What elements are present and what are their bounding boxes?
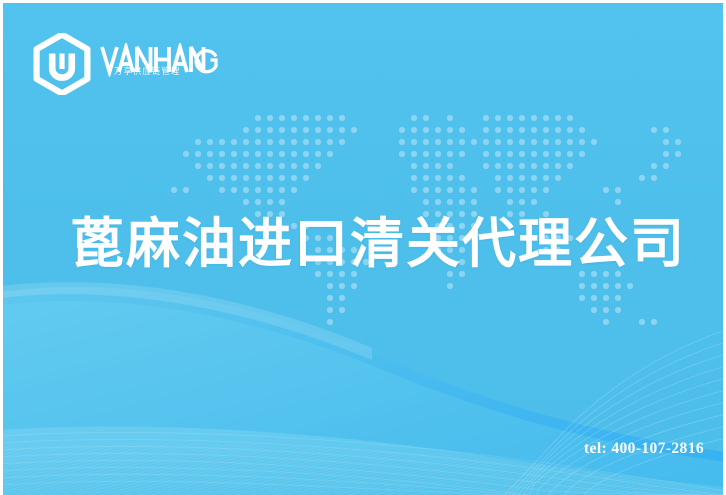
logo-subtitle: 万享供应链管理 xyxy=(114,67,180,75)
vanhang-hexagon-u-mark xyxy=(33,33,91,95)
contact-phone[interactable]: tel: 400-107-2816 xyxy=(584,441,704,457)
logo-text-block: 万享供应链管理 xyxy=(100,42,218,86)
brand-logo[interactable]: 万享供应链管理 xyxy=(33,34,218,94)
page-title: 蓖麻油进口清关代理公司 xyxy=(70,213,686,275)
promo-banner: 万享供应链管理 蓖麻油进口清关代理公司 tel: 400-107-2816 xyxy=(0,0,726,495)
